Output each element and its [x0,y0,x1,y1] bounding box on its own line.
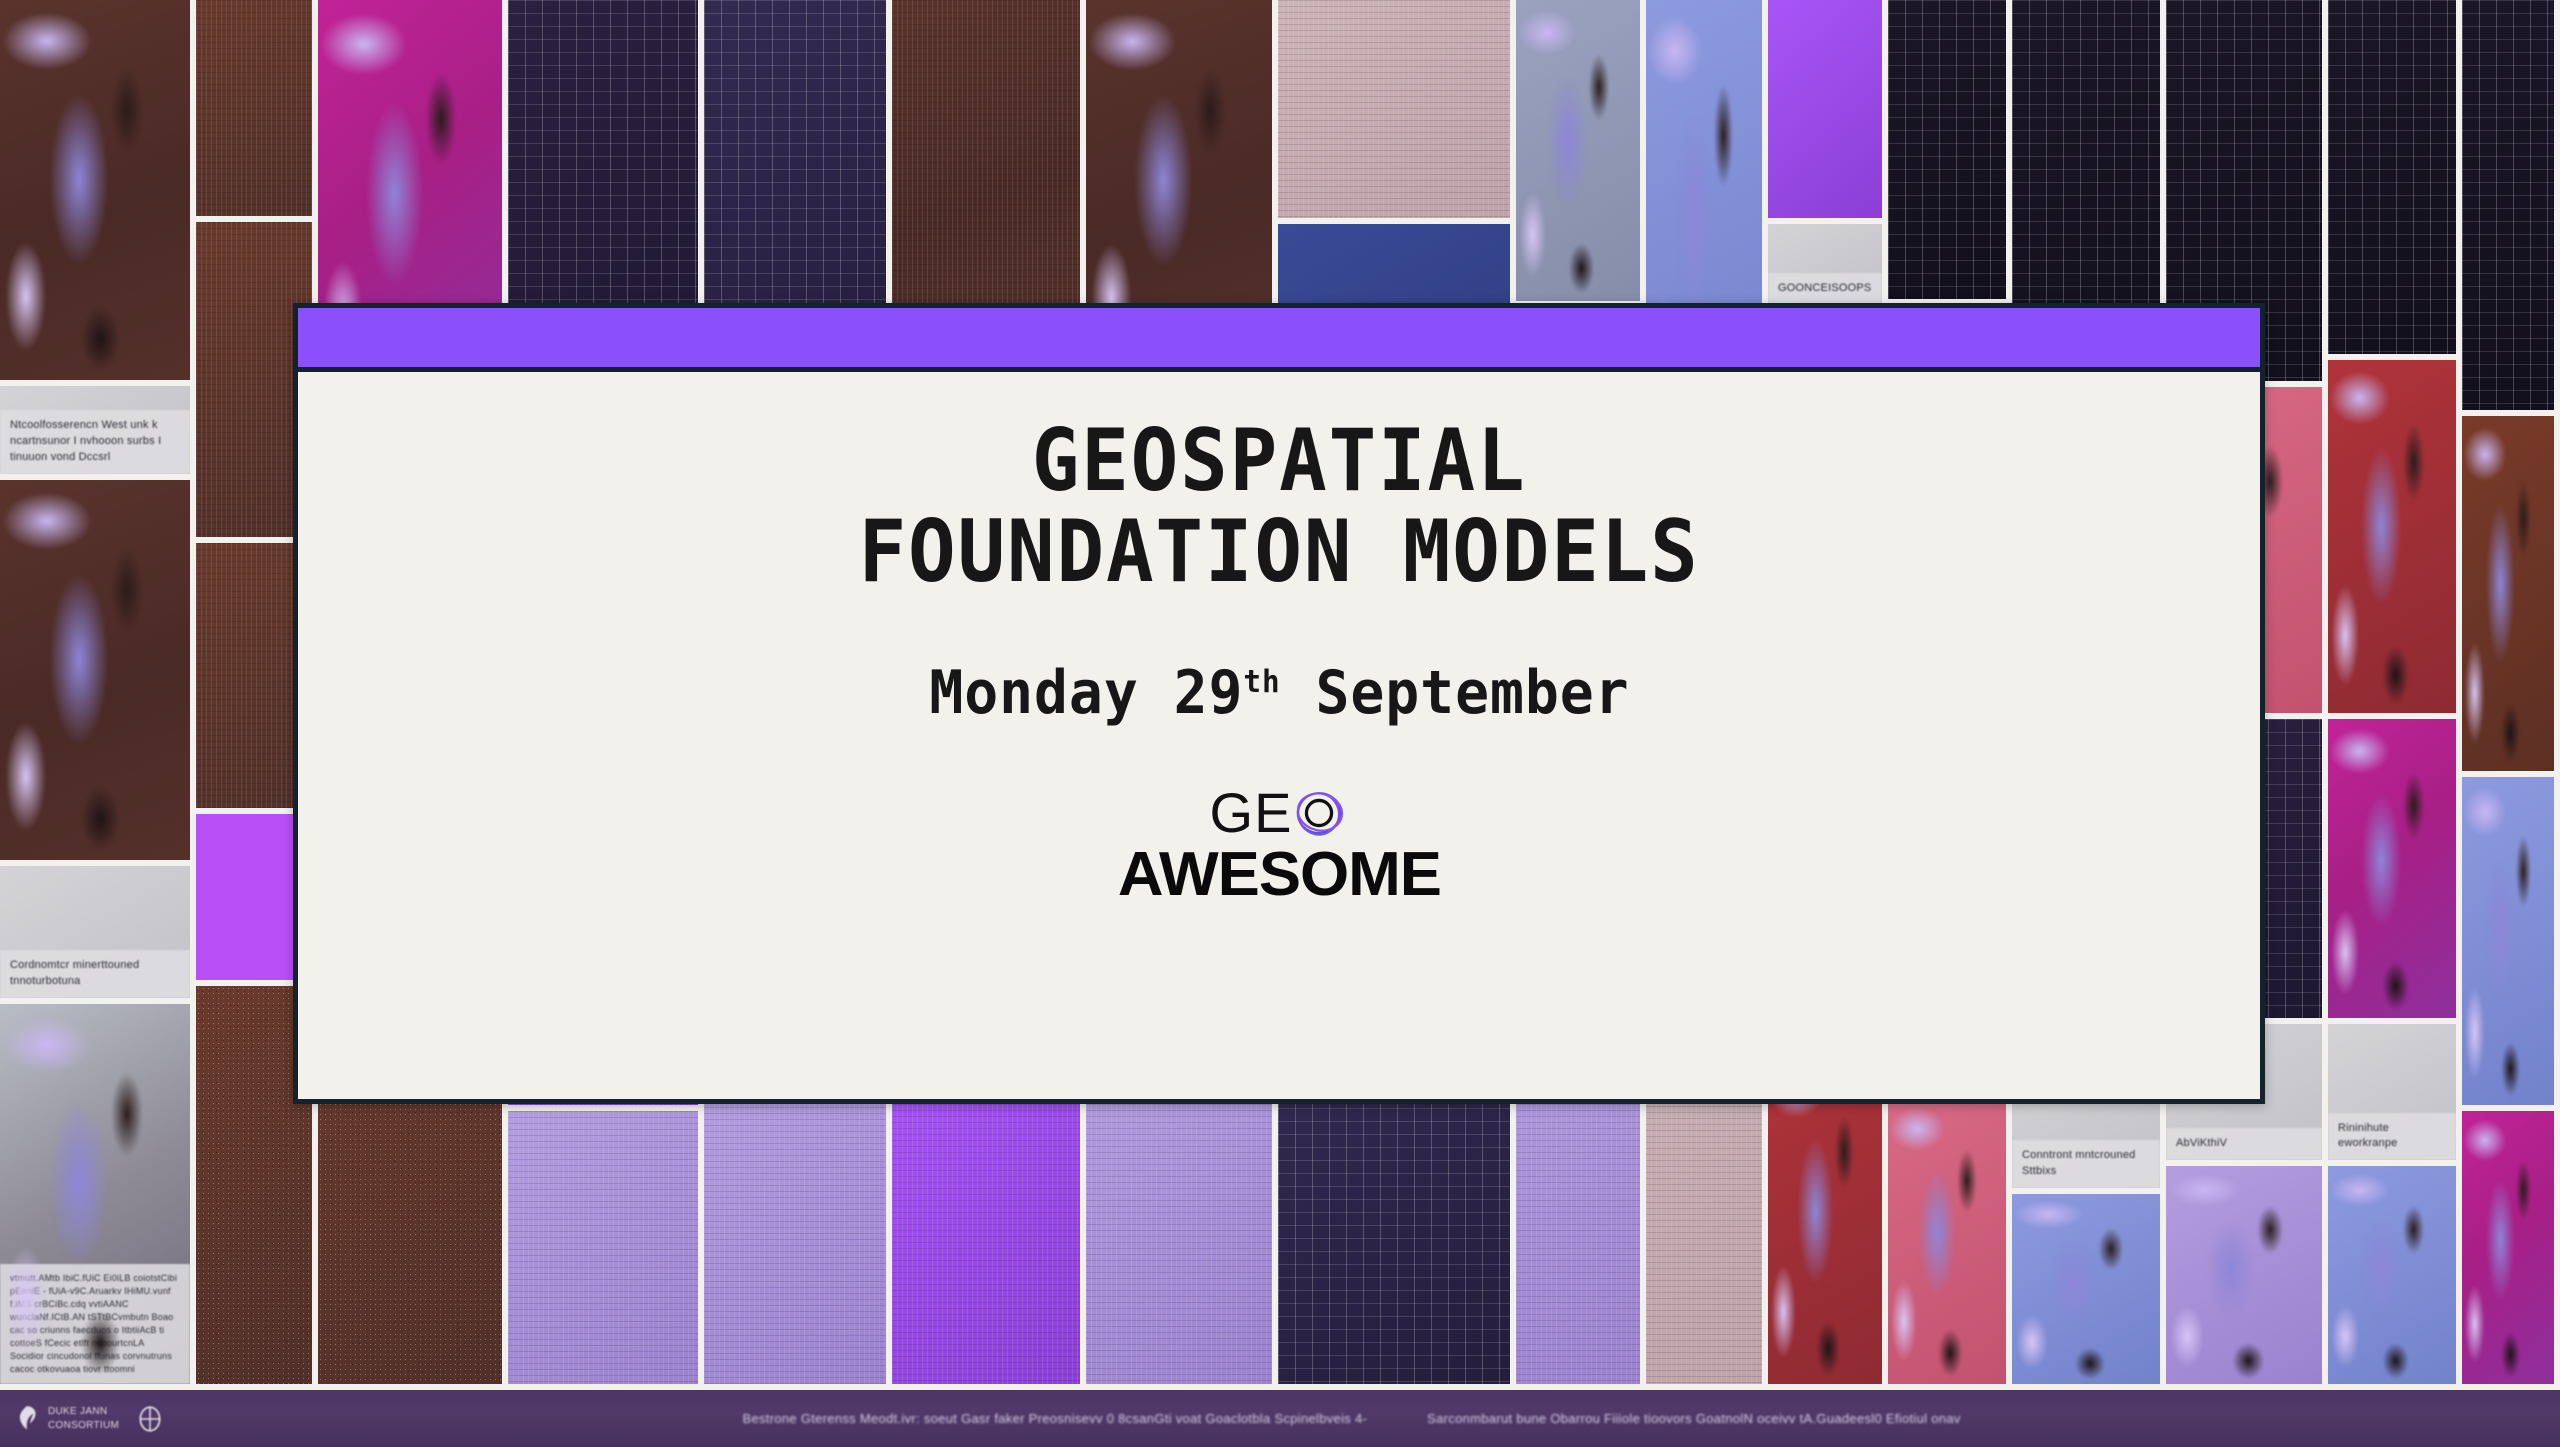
imagery-column: Rininihute eworkranpe [2328,0,2462,1390]
title-line-2: FOUNDATION MODELS [858,507,1699,598]
imagery-tile [1888,0,2006,305]
footer-logo: DUKE JANNCONSORTIUM [14,1404,119,1434]
imagery-tile [2012,1194,2160,1390]
card-body: GEOSPATIAL FOUNDATION MODELS Monday 29th… [298,372,2260,1099]
imagery-tile [2462,1111,2554,1390]
title-line-1: GEOSPATIAL [858,416,1699,507]
imagery-column: Ntcoolfosserencn West unk k ncartnsunor … [0,0,196,1390]
logo-geo-text: GE [1210,785,1293,841]
announcement-card: GEOSPATIAL FOUNDATION MODELS Monday 29th… [293,303,2265,1104]
imagery-tile [1086,1056,1272,1390]
logo-awesome-text: AWESOME [1117,844,1440,906]
imagery-tile [1516,0,1640,307]
leaf-mark-icon [14,1404,40,1434]
card-accent-band [298,308,2260,372]
imagery-tile [0,480,190,866]
footer-ticker-item: Bestrone Gterenss Meodt.ivr: soeut Gasr … [742,1411,1367,1426]
logo-geo-row: GE [1210,784,1349,842]
footer-ticker: Bestrone Gterenss Meodt.ivr: soeut Gasr … [163,1411,2560,1426]
footer-logos: DUKE JANNCONSORTIUM [0,1404,163,1434]
event-date-prefix: Monday 29 [929,658,1243,728]
imagery-tile: Cordnomtcr minerttouned tnnoturbotuna [0,866,190,1004]
globe-mark-icon [137,1404,163,1434]
geoawesome-logo: GE AWESOME [1121,784,1438,906]
imagery-tile-caption: Conntront mntcrouned Sttbixs [2012,1140,2160,1188]
scribble-o-icon [1290,784,1348,842]
imagery-tile [2328,360,2456,720]
imagery-tile [0,0,190,386]
imagery-tile [2462,777,2554,1111]
imagery-tile [2328,719,2456,1024]
imagery-tile [1768,0,1882,224]
imagery-tile-caption: Ntcoolfosserencn West unk k ncartnsunor … [0,410,190,474]
imagery-tile [2328,0,2456,360]
imagery-tile-caption: Rininihute eworkranpe [2328,1113,2456,1161]
imagery-tile [1278,0,1510,224]
imagery-tile: GOONCEISOOPS [1768,224,1882,312]
event-date-ordinal: th [1243,664,1280,700]
imagery-tile [2462,416,2554,777]
imagery-tile [892,1056,1080,1390]
imagery-tile-caption: GOONCEISOOPS [1768,273,1882,305]
imagery-column [2462,0,2560,1390]
imagery-tile [704,1083,886,1390]
imagery-tile [2462,0,2554,416]
event-date: Monday 29th September [929,658,1629,728]
imagery-tile-caption: vtmutt.AMtb IbiC.fUiC Ei0iLB coiotstCibi… [0,1264,190,1384]
footer-status-bar: DUKE JANNCONSORTIUM Bestrone Gterenss Me… [0,1390,2560,1447]
footer-ticker-item: Sarconmbarut bune Obarrou Fiiiole tioovo… [1427,1411,1961,1426]
page-title: GEOSPATIAL FOUNDATION MODELS [858,416,1699,598]
imagery-tile [196,0,312,222]
imagery-tile [508,1111,698,1390]
imagery-tile [2166,1166,2322,1390]
imagery-tile [1768,1058,1882,1390]
imagery-tile: vtmutt.AMtb IbiC.fUiC Ei0iLB coiotstCibi… [0,1004,190,1390]
event-date-suffix: September [1280,658,1629,728]
footer-logo-text: DUKE JANNCONSORTIUM [48,1405,119,1432]
imagery-tile-caption: AbViKthiV [2166,1128,2322,1160]
footer-logo [137,1404,163,1434]
imagery-tile-caption: Cordnomtcr minerttouned tnnoturbotuna [0,950,190,998]
imagery-tile [2328,1166,2456,1390]
imagery-tile [1888,1098,2006,1390]
imagery-tile: Ntcoolfosserencn West unk k ncartnsunor … [0,386,190,480]
imagery-tile: Rininihute eworkranpe [2328,1024,2456,1166]
